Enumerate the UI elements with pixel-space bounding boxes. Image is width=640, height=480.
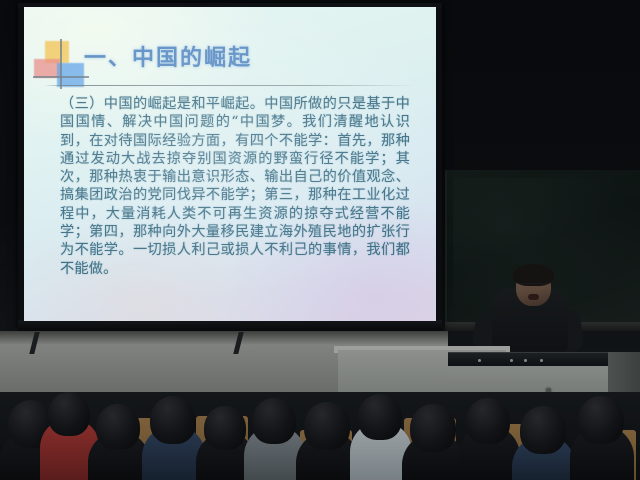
presentation-slide: 一、中国的崛起 （三）中国的崛起是和平崛起。中国所做的只是基于中国国情、解决中国… bbox=[24, 7, 436, 321]
audience-person-head bbox=[96, 404, 140, 450]
audience-person-head bbox=[410, 404, 456, 452]
audience-person-head bbox=[48, 392, 90, 436]
audience-person-head bbox=[150, 396, 196, 444]
audience-person-head bbox=[578, 396, 624, 444]
slide-decoration-blocks bbox=[33, 39, 89, 89]
slide-title: 一、中国的崛起 bbox=[84, 40, 414, 72]
slide-title-rule bbox=[44, 85, 416, 86]
audience-person-head bbox=[204, 406, 246, 450]
control-indicator bbox=[510, 359, 513, 362]
audience-person-head bbox=[358, 394, 402, 440]
screen-bottom-bar bbox=[18, 320, 442, 331]
audience-person-head bbox=[304, 402, 350, 450]
control-indicator bbox=[478, 359, 481, 362]
audience-person-head bbox=[252, 398, 296, 444]
speaker-glasses bbox=[519, 283, 548, 290]
control-indicator bbox=[540, 359, 543, 362]
wall-shadow bbox=[0, 331, 448, 345]
slide-body-text: （三）中国的崛起是和平崛起。中国所做的只是基于中国国情、解决中国问题的“中国梦。… bbox=[60, 95, 410, 278]
decor-line-vertical bbox=[60, 39, 62, 89]
audience-person-head bbox=[520, 406, 566, 454]
decor-line-horizontal bbox=[33, 76, 89, 78]
control-indicator bbox=[524, 359, 527, 362]
photograph-scene: 一、中国的崛起 （三）中国的崛起是和平崛起。中国所做的只是基于中国国情、解决中国… bbox=[0, 0, 640, 480]
av-control-panel bbox=[448, 352, 608, 367]
speaker-mouth bbox=[528, 294, 539, 300]
audience-person-head bbox=[466, 398, 510, 444]
